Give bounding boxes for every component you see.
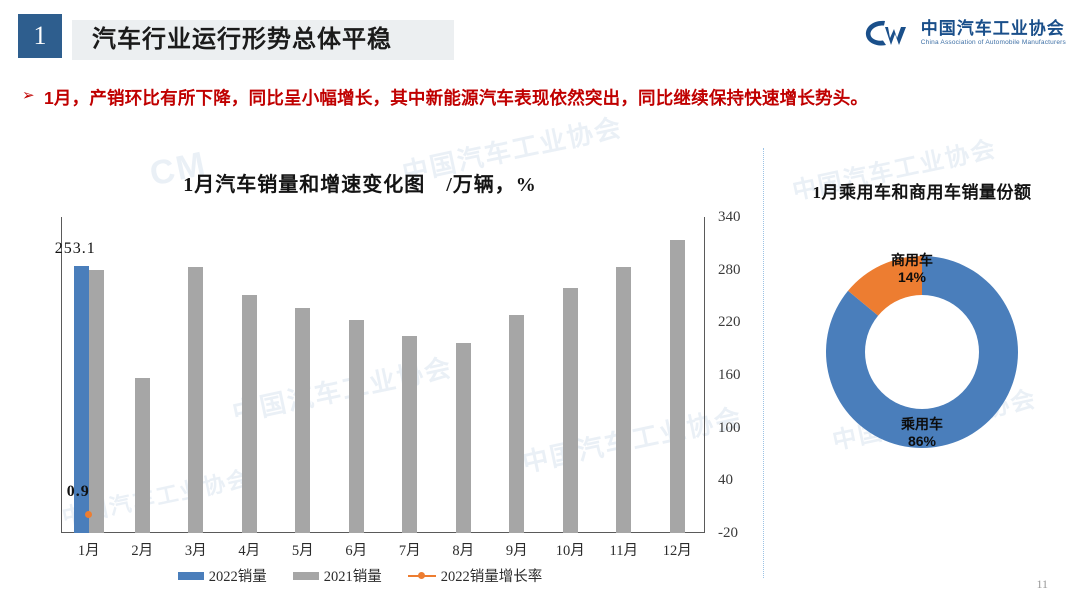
brand-logo: 中国汽车工业协会 China Association of Automobile… (863, 16, 1066, 50)
donut-slice-label-commercial: 商用车 14% (874, 252, 950, 286)
donut-label-name: 乘用车 (901, 416, 943, 432)
slide-root: CM 中国汽车工业协会 中国汽车工业协会 中国汽车工业协会 中国汽车工业协会 中… (0, 0, 1080, 604)
section-number-badge: 1 (18, 14, 62, 58)
bullet-arrow-icon: ➢ (22, 89, 35, 104)
donut-chart-title: 1月乘用车和商用车销量份额 (764, 178, 1080, 203)
bar-2021 (188, 267, 203, 533)
donut-slice-label-passenger: 乘用车 86% (884, 416, 960, 450)
bar-chart-legend: 2022销量2021销量2022销量增长率 (0, 565, 720, 586)
donut-chart-panel: 1月乘用车和商用车销量份额 商用车 14% 乘用车 86% (764, 150, 1080, 604)
bar-2021 (242, 295, 257, 533)
x-axis (61, 532, 705, 533)
donut-label-value: 14% (898, 269, 926, 285)
bar-2021 (563, 288, 578, 533)
legend-swatch-icon (293, 572, 319, 580)
data-label-growth-rate: 0.9 (67, 483, 90, 501)
legend-line-marker-icon (408, 572, 436, 580)
donut-label-value: 86% (908, 433, 936, 449)
x-axis-tick: 4月 (223, 544, 275, 559)
legend-swatch-icon (178, 572, 204, 580)
slide-header: 1 汽车行业运行形势总体平稳 中国汽车工业协会 China Associatio… (0, 0, 1080, 72)
bar-2021 (616, 267, 631, 533)
bar-2021 (295, 308, 310, 533)
page-title: 汽车行业运行形势总体平稳 (92, 23, 392, 57)
y-axis-right (704, 217, 705, 533)
donut-chart: 商用车 14% 乘用车 86% (800, 230, 1044, 474)
legend-label: 2022销量 (209, 565, 267, 586)
x-axis-tick: 12月 (651, 544, 703, 559)
legend-label: 2021销量 (324, 565, 382, 586)
x-axis-tick: 3月 (170, 544, 222, 559)
bullet-text: 1月，产销环比有所下降，同比呈小幅增长，其中新能源汽车表现依然突出，同比继续保持… (44, 84, 1062, 112)
bar-2021 (456, 343, 471, 533)
bullet-paragraph: ➢ 1月，产销环比有所下降，同比呈小幅增长，其中新能源汽车表现依然突出，同比继续… (22, 84, 1062, 112)
x-axis-tick: 11月 (598, 544, 650, 559)
donut-label-name: 商用车 (891, 252, 933, 268)
caam-logo-icon (863, 16, 913, 50)
x-axis-tick: 8月 (437, 544, 489, 559)
x-axis-tick: 5月 (277, 544, 329, 559)
logo-text: 中国汽车工业协会 China Association of Automobile… (921, 20, 1066, 47)
bar-chart-panel: 1月汽车销量和增速变化图 /万辆，% 050100150200250300 -2… (0, 150, 760, 604)
x-axis-tick: 1月 (63, 544, 115, 559)
x-axis-tick: 2月 (116, 544, 168, 559)
logo-title-cn: 中国汽车工业协会 (921, 20, 1066, 38)
bar-2021 (402, 336, 417, 533)
bar-chart-title: 1月汽车销量和增速变化图 /万辆，% (0, 168, 720, 197)
legend-item[interactable]: 2022销量增长率 (408, 565, 543, 586)
legend-label: 2022销量增长率 (441, 565, 543, 586)
x-axis-tick: 7月 (384, 544, 436, 559)
bar-2021 (135, 378, 150, 533)
y-axis-left (61, 217, 62, 533)
bar-2021 (509, 315, 524, 533)
logo-title-en: China Association of Automobile Manufact… (921, 40, 1066, 47)
bar-2021 (349, 320, 364, 533)
x-axis-tick: 6月 (330, 544, 382, 559)
data-label-2022-sales: 253.1 (55, 240, 96, 258)
bar-chart-plot-area: 050100150200250300 -2040100160220280340 … (62, 217, 704, 533)
page-number: 11 (1036, 577, 1048, 592)
x-axis-tick: 9月 (491, 544, 543, 559)
bar-2021 (89, 270, 104, 533)
legend-item[interactable]: 2021销量 (293, 565, 382, 586)
bar-2021 (670, 240, 685, 533)
x-axis-tick: 10月 (544, 544, 596, 559)
legend-item[interactable]: 2022销量 (178, 565, 267, 586)
